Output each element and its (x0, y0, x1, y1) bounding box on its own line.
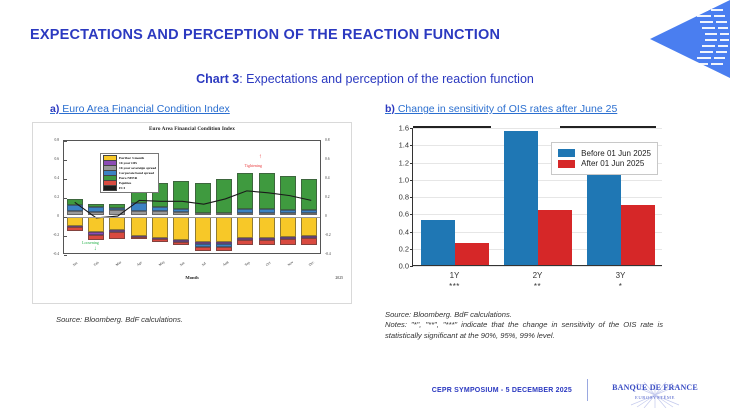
chart-a-ytick: 0.8 (325, 138, 345, 142)
chart-a-bar-column (299, 141, 320, 253)
chart-a-xtick: May (158, 260, 166, 267)
chart-a-tickmark (64, 179, 67, 180)
chart-a-bar-segment (195, 183, 211, 213)
chart-b-ytick: 0.8 (399, 193, 409, 202)
chart-a-bar-segment (88, 207, 104, 212)
chart-a-bar-column (171, 141, 192, 253)
chart-b-ytick: 0.0 (399, 262, 409, 271)
chart-b-legend-item: After 01 Jun 2025 (558, 159, 651, 168)
chart-b-legend-swatch (558, 149, 575, 157)
chart-a-tickmark (64, 198, 67, 199)
chart-a-bar-segment (152, 239, 168, 242)
chart-a-bar-segment (67, 227, 83, 231)
chart-b-significance: ** (496, 282, 579, 291)
chart-a-bar-segment (280, 213, 296, 215)
chart-a-bar-segment (301, 210, 317, 213)
chart-a-legend-label: Euribor 3 month (119, 156, 144, 160)
chart-a-bar-segment (237, 173, 253, 209)
footer-divider (587, 379, 588, 401)
chart-a-ytick: 0.2 (325, 195, 345, 199)
arrow-up-icon: ↑ (259, 154, 262, 160)
chart-a-bar-segment (173, 181, 189, 210)
chart-a-bar-segment (109, 210, 125, 215)
chart-a-ytick: -0.4 (39, 252, 59, 256)
chart-a-bar-column (192, 141, 213, 253)
chart-a-bar-segment (173, 212, 189, 215)
chart-a-ytick: 0.2 (39, 195, 59, 199)
chart-b-legend-label: After 01 Jun 2025 (581, 159, 644, 168)
arrow-down-icon: ↓ (94, 246, 97, 252)
chart-b-bar (421, 220, 455, 265)
chart-a-bar-segment (173, 217, 189, 240)
chart-b-bar (504, 131, 538, 265)
chart-a-bar-segment (152, 217, 168, 238)
chart-b-xtick: 3Y (579, 271, 662, 280)
chart-a-legend-item: FCI (103, 186, 156, 191)
chart-a-bar-segment (259, 213, 275, 215)
chart-a-ytick: -0.2 (325, 233, 345, 237)
chart-a-xtick: Oct (265, 261, 272, 267)
chart-a-bar-segment (216, 213, 232, 215)
chart-a-bar-segment (67, 217, 83, 226)
chart-b-bar (621, 205, 655, 265)
chart-euro-area-fci: Euro Area Financial Condition Index Euri… (32, 122, 352, 304)
chart-a-bar-column (277, 141, 298, 253)
chart-b-ytick: 0.2 (399, 244, 409, 253)
chart-a-bar-segment (280, 217, 296, 237)
chart-b-group: 1Y*** (413, 128, 496, 265)
chart-a-bar-segment (259, 240, 275, 245)
chart-a-bar-column (213, 141, 234, 253)
chart-a-bar-segment (88, 235, 104, 240)
chart-a-bar-segment (195, 247, 211, 251)
chart-a-ytick: 0.4 (325, 176, 345, 180)
chart-a-xtick: Feb (93, 261, 100, 268)
chart-b-bar (538, 210, 572, 265)
chart-a-xtick: Mar (115, 260, 122, 267)
chart-b-top-rule-1 (413, 126, 491, 128)
chart-a-bar-segment (301, 217, 317, 236)
logo-burst-icon (628, 382, 682, 408)
chart-a-xtick: Sep (244, 261, 251, 268)
chart-a-xtick: Nov (287, 260, 294, 267)
chart-b-legend-label: Before 01 Jun 2025 (581, 149, 651, 158)
chart-a-ytick: -0.2 (39, 233, 59, 237)
banque-de-france-logo: BANQUE DE FRANCE EUROSYSTÈME (596, 383, 714, 400)
chart-a-ytick: 0.8 (39, 138, 59, 142)
chart-a-tickmark (64, 255, 67, 256)
chart-a-ytick: 0 (325, 214, 345, 218)
chart-a-bar-segment (109, 208, 125, 210)
chart-a-bar-segment (173, 242, 189, 246)
chart-a-bar-segment (237, 209, 253, 213)
chart-caption-text: : Expectations and perception of the rea… (239, 72, 534, 86)
chart-a-bar-segment (152, 207, 168, 211)
chart-b-axes: 0.00.20.40.60.81.01.21.41.6 1Y***2Y**3Y*… (412, 128, 662, 266)
chart-a-bar-column (64, 141, 85, 253)
chart-b-ytick: 1.6 (399, 124, 409, 133)
chart-a-legend: Euribor 3 month10-year OIS10-year sovere… (100, 153, 159, 193)
chart-a-bar-segment (131, 203, 147, 212)
chart-a-axes: Euribor 3 month10-year OIS10-year sovere… (63, 140, 321, 254)
chart-a-bar-column (235, 141, 256, 253)
chart-a-bar-segment (109, 217, 125, 230)
chart-a-bar-segment (195, 213, 211, 215)
chart-a-bar-segment (216, 179, 232, 213)
chart-a-xtick: Dec (308, 260, 315, 267)
chart-b-ytick: 1.0 (399, 175, 409, 184)
chart-a-bar-segment (67, 199, 83, 205)
chart-a-tickmark (64, 141, 67, 142)
chart-a-legend-label: Equities (119, 181, 131, 185)
chart-b-ytick: 1.4 (399, 141, 409, 150)
chart-a-bar-segment (152, 211, 168, 215)
chart-b-xtick: 1Y (413, 271, 496, 280)
source-note-b: Source: Bloomberg. BdF calculations. Not… (385, 310, 663, 341)
source-note-a: Source: Bloomberg. BdF calculations. (56, 315, 183, 325)
chart-b-ytick: 0.4 (399, 227, 409, 236)
chart-b-tickmark (410, 266, 413, 267)
chart-a-xtick: Jun (179, 261, 185, 267)
chart-a-bar-segment (195, 217, 211, 242)
chart-b-ytick: 1.2 (399, 158, 409, 167)
footer: CEPR SYMPOSIUM - 5 DECEMBER 2025 BANQUE … (0, 380, 730, 410)
chart-a-xtick: Apr (136, 260, 143, 267)
chart-a-legend-swatch (103, 185, 117, 191)
chart-a-bar-segment (88, 212, 104, 215)
chart-a-bar-segment (301, 213, 317, 215)
panel-a-title: a) Euro Area Financial Condition Index (50, 103, 230, 115)
chart-a-xtick: Jul (201, 261, 207, 267)
chart-a-plot: Euribor 3 month10-year OIS10-year sovere… (33, 132, 351, 284)
footer-event-text: CEPR SYMPOSIUM - 5 DECEMBER 2025 (432, 387, 572, 394)
chart-a-bar-segment (88, 217, 104, 232)
chart-a-ytick: 0.6 (325, 157, 345, 161)
chart-a-year-label: 2025 (335, 276, 343, 280)
chart-a-bar-segment (280, 210, 296, 213)
chart-a-tickmark (64, 217, 67, 218)
chart-a-bar-segment (280, 176, 296, 210)
chart-a-bar-segment (237, 240, 253, 245)
chart-a-bar-segment (216, 217, 232, 242)
chart-b-top-rule-2 (560, 126, 656, 128)
panel-b-title: b) Change in sensitivity of OIS rates af… (385, 103, 617, 115)
chart-b-bar (455, 243, 489, 265)
chart-a-bar-segment (109, 204, 125, 209)
panel-a-title-text: Euro Area Financial Condition Index (59, 103, 229, 115)
chart-a-bar-segment (216, 247, 232, 251)
annotation-tightening: Tightening (245, 163, 262, 168)
chart-a-tickmark (64, 236, 67, 237)
chart-b-gridline (413, 266, 662, 267)
chart-a-ytick: 0 (39, 214, 59, 218)
chart-b-significance: * (579, 282, 662, 291)
panel-b-title-text: Change in sensitivity of OIS rates after… (395, 103, 617, 115)
chart-a-zero-line (64, 217, 320, 218)
chart-a-bar-segment (301, 179, 317, 210)
chart-a-bar-segment (259, 209, 275, 213)
chart-a-bar-segment (301, 238, 317, 245)
chart-a-xtick: Jan (72, 261, 78, 267)
chart-b-legend: Before 01 Jun 2025After 01 Jun 2025 (551, 142, 658, 175)
chart-ois-sensitivity: 0.00.20.40.60.81.01.21.41.6 1Y***2Y**3Y*… (378, 118, 668, 300)
chart-a-bar-segment (131, 211, 147, 215)
chart-b-significance: *** (413, 282, 496, 291)
chart-a-legend-label: 10-year OIS (119, 161, 137, 165)
chart-a-bar-segment (280, 239, 296, 245)
chart-b-legend-swatch (558, 160, 575, 168)
chart-a-bar-segment (131, 237, 147, 239)
chart-b-plot: 0.00.20.40.60.81.01.21.41.6 1Y***2Y**3Y*… (378, 118, 668, 300)
chart-a-bar-segment (259, 217, 275, 238)
chart-caption-label: Chart 3 (196, 72, 239, 86)
chart-a-bar-segment (237, 213, 253, 215)
chart-a-ytick: -0.4 (325, 252, 345, 256)
panel-b-marker: b) (385, 103, 395, 115)
chart-a-bar-segment (259, 173, 275, 209)
source-note-b-notes: Notes: "*", "**", "***" indicate that th… (385, 320, 663, 339)
chart-a-xtick: Aug (222, 260, 229, 267)
chart-a-ytick: 0.6 (39, 157, 59, 161)
chart-b-legend-item: Before 01 Jun 2025 (558, 149, 651, 158)
corner-decoration (650, 0, 730, 78)
chart-b-xtick: 2Y (496, 271, 579, 280)
panel-a-marker: a) (50, 103, 59, 115)
source-note-b-source: Source: Bloomberg. BdF calculations. (385, 310, 663, 320)
chart-a-bar-segment (88, 204, 104, 208)
chart-a-bar-segment (131, 217, 147, 236)
chart-a-bar-segment (67, 205, 83, 212)
chart-a-xlabel: Month (33, 275, 351, 280)
chart-a-ytick: 0.4 (39, 176, 59, 180)
chart-a-legend-label: Euro NEER (119, 176, 137, 180)
chart-a-legend-label: Corporate bond spread (119, 171, 154, 175)
chart-a-bar-segment (237, 217, 253, 238)
chart-a-bar-segment (173, 209, 189, 212)
chart-a-legend-label: 10-year sovereign spread (119, 166, 156, 170)
chart-a-tickmark (64, 160, 67, 161)
chart-a-bar-segment (67, 211, 83, 215)
chart-a-legend-label: FCI (119, 186, 125, 190)
chart-b-ytick: 0.6 (399, 210, 409, 219)
page-title: EXPECTATIONS AND PERCEPTION OF THE REACT… (30, 27, 500, 43)
chart-a-bar-segment (109, 232, 125, 239)
chart-caption: Chart 3: Expectations and perception of … (0, 72, 730, 86)
